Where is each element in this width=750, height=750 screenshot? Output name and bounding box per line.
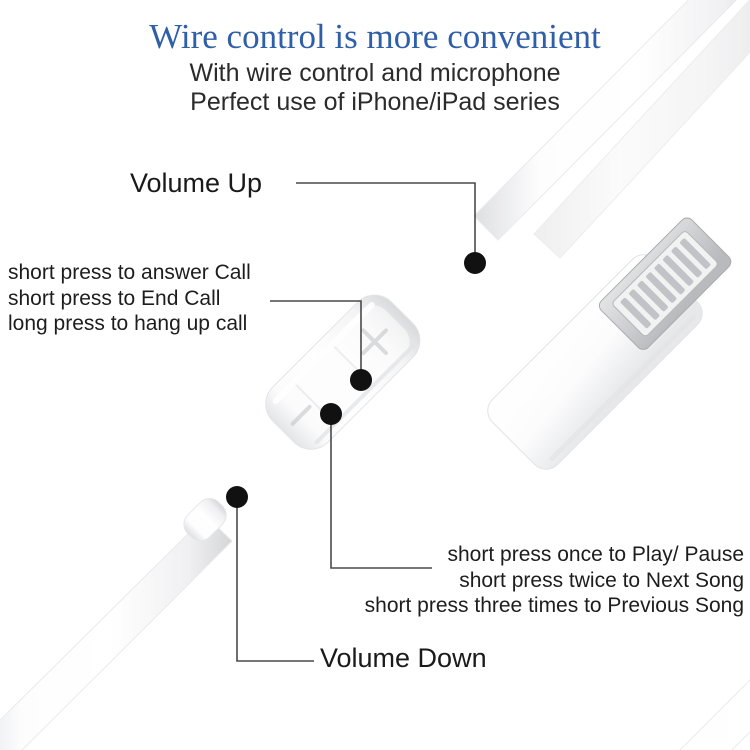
leader-volume-up bbox=[296, 183, 475, 255]
volume-up-dot bbox=[464, 252, 486, 274]
lightning-connector bbox=[481, 215, 734, 476]
answer-call-dot bbox=[350, 369, 372, 391]
call-callout-block: short press to answer Call short press t… bbox=[8, 260, 251, 337]
media-callout-line-3: short press three times to Previous Song bbox=[365, 593, 744, 619]
subtitle-line-2: Perfect use of iPhone/iPad series bbox=[0, 88, 750, 117]
remote-control-module bbox=[256, 285, 430, 459]
volume-down-dot bbox=[226, 486, 248, 508]
play-pause-dot bbox=[320, 403, 342, 425]
callout-markers bbox=[226, 252, 486, 508]
call-callout-line-2: short press to End Call bbox=[8, 286, 251, 312]
lower-left-cable bbox=[0, 493, 232, 750]
label-volume-up: Volume Up bbox=[130, 168, 262, 199]
infographic-page: Wire control is more convenient With wir… bbox=[0, 0, 750, 750]
leader-volume-down bbox=[237, 505, 314, 661]
call-callout-line-1: short press to answer Call bbox=[8, 260, 251, 286]
media-callout-block: short press once to Play/ Pause short pr… bbox=[365, 542, 744, 619]
call-callout-line-3: long press to hang up call bbox=[8, 311, 251, 337]
media-callout-line-2: short press twice to Next Song bbox=[365, 568, 744, 594]
media-callout-line-1: short press once to Play/ Pause bbox=[365, 542, 744, 568]
label-volume-down: Volume Down bbox=[320, 643, 487, 674]
page-title: Wire control is more convenient bbox=[0, 17, 750, 57]
subtitle-line-1: With wire control and microphone bbox=[0, 59, 750, 88]
